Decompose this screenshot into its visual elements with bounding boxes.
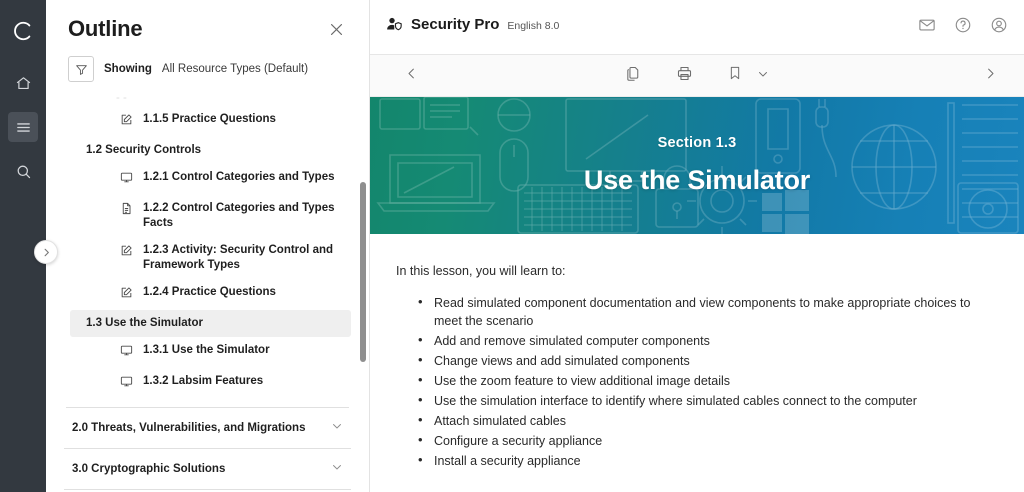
outline-item-selected[interactable]: 1.3 Use the Simulator: [70, 310, 351, 337]
account-icon[interactable]: [990, 16, 1008, 39]
outline-item[interactable]: 1.3.1 Use the Simulator: [112, 337, 351, 368]
lesson-objective-item: Read simulated component documentation a…: [418, 294, 984, 330]
edit-icon: [120, 112, 135, 131]
app-root: Outline Showing All Resource Types (Defa…: [0, 0, 1024, 492]
lesson-objective-item: Attach simulated cables: [418, 412, 984, 430]
banner-title: Use the Simulator: [584, 165, 810, 196]
monitor-icon: [120, 374, 135, 393]
outline-item[interactable]: 1.2.4 Practice Questions: [112, 279, 351, 310]
edit-icon: [120, 243, 135, 262]
outline-item[interactable]: 1.2 Security Controls: [70, 137, 351, 164]
outline-scroll-area: - -1.1.5 Practice Questions1.2 Security …: [46, 92, 369, 492]
page-title: Outline: [68, 16, 142, 42]
expand-panel-button[interactable]: [34, 240, 58, 264]
outline-item-label: 1.2.3 Activity: Security Control and Fra…: [143, 243, 343, 273]
lesson-objective-item: Configure a security appliance: [418, 432, 984, 450]
lesson-objective-item: Use the zoom feature to view additional …: [418, 372, 984, 390]
edit-icon: [120, 285, 135, 304]
funnel-icon[interactable]: [68, 56, 94, 82]
outline-tree: - -1.1.5 Practice Questions1.2 Security …: [46, 92, 369, 492]
home-icon[interactable]: [8, 68, 38, 98]
close-icon[interactable]: [325, 18, 347, 40]
lesson-toolbar: [370, 55, 1024, 97]
content-area: Security Pro English 8.0: [370, 0, 1024, 492]
outline-item-label: 1.3 Use the Simulator: [86, 316, 203, 331]
app-logo-icon[interactable]: [8, 16, 38, 46]
topbar-actions: [918, 16, 1008, 39]
outline-item[interactable]: 1.1.5 Practice Questions: [112, 106, 351, 137]
outline-chapter-label: 2.0 Threats, Vulnerabilities, and Migrat…: [72, 422, 305, 434]
outline-chapter-label: 3.0 Cryptographic Solutions: [72, 463, 225, 475]
outline-item[interactable]: 1.2.3 Activity: Security Control and Fra…: [112, 237, 351, 279]
outline-item[interactable]: 1.2.2 Control Categories and Types Facts: [112, 195, 351, 237]
chevron-right-icon[interactable]: [983, 66, 998, 86]
copy-icon[interactable]: [625, 65, 642, 87]
banner-section-label: Section 1.3: [658, 135, 737, 151]
outline-item-label: 1.2.4 Practice Questions: [143, 285, 276, 300]
bookmark-icon[interactable]: [727, 65, 743, 86]
lesson-objective-item: Install a security appliance: [418, 452, 984, 470]
outline-item-label: 1.2.1 Control Categories and Types: [143, 170, 335, 185]
chevron-down-icon[interactable]: [757, 67, 769, 85]
chevron-left-icon[interactable]: [404, 66, 419, 86]
showing-value[interactable]: All Resource Types (Default): [162, 63, 308, 75]
outline-item-label: 1.3.2 Labsim Features: [143, 374, 263, 389]
outline-chapter[interactable]: 2.0 Threats, Vulnerabilities, and Migrat…: [64, 408, 351, 449]
outline-panel: Outline Showing All Resource Types (Defa…: [46, 0, 370, 492]
brand: Security Pro English 8.0: [386, 16, 559, 38]
filter-row: Showing All Resource Types (Default): [46, 50, 369, 92]
print-icon[interactable]: [676, 65, 693, 87]
help-icon[interactable]: [954, 16, 972, 39]
outline-item-label: 1.2.2 Control Categories and Types Facts: [143, 201, 343, 231]
lesson-objective-item: Use the simulation interface to identify…: [418, 392, 984, 410]
outline-item-label: 1.1.5 Practice Questions: [143, 112, 276, 127]
lesson-intro: In this lesson, you will learn to:: [396, 264, 984, 278]
chevron-down-icon[interactable]: [331, 419, 343, 437]
outline-header: Outline: [46, 0, 369, 50]
outline-clipped-row: - -: [64, 92, 351, 106]
top-bar: Security Pro English 8.0: [370, 0, 1024, 55]
mail-icon[interactable]: [918, 16, 936, 39]
menu-icon[interactable]: [8, 112, 38, 142]
brand-name: Security Pro: [411, 16, 499, 33]
monitor-icon: [120, 170, 135, 189]
outline-item[interactable]: 1.3.2 Labsim Features: [112, 368, 351, 399]
user-shield-icon: [386, 16, 403, 38]
monitor-icon: [120, 343, 135, 362]
outline-item-label: 1.3.1 Use the Simulator: [143, 343, 270, 358]
lesson-objective-item: Change views and add simulated component…: [418, 352, 984, 370]
bookmark-group: [727, 65, 769, 86]
outline-item-label: 1.2 Security Controls: [86, 143, 201, 158]
lesson-objectives-list: Read simulated component documentation a…: [396, 294, 984, 470]
lesson-body: In this lesson, you will learn to: Read …: [370, 234, 1024, 492]
showing-label: Showing: [104, 63, 152, 75]
search-icon[interactable]: [8, 156, 38, 186]
outline-scrollbar[interactable]: [360, 182, 366, 362]
lesson-objective-item: Add and remove simulated computer compon…: [418, 332, 984, 350]
toolbar-center-actions: [370, 65, 1024, 87]
outline-chapter[interactable]: 3.0 Cryptographic Solutions: [64, 449, 351, 490]
lesson-banner: Section 1.3 Use the Simulator: [370, 97, 1024, 234]
document-icon: [120, 201, 135, 220]
outline-item[interactable]: 1.2.1 Control Categories and Types: [112, 164, 351, 195]
chevron-down-icon[interactable]: [331, 460, 343, 478]
brand-version: English 8.0: [507, 20, 559, 32]
